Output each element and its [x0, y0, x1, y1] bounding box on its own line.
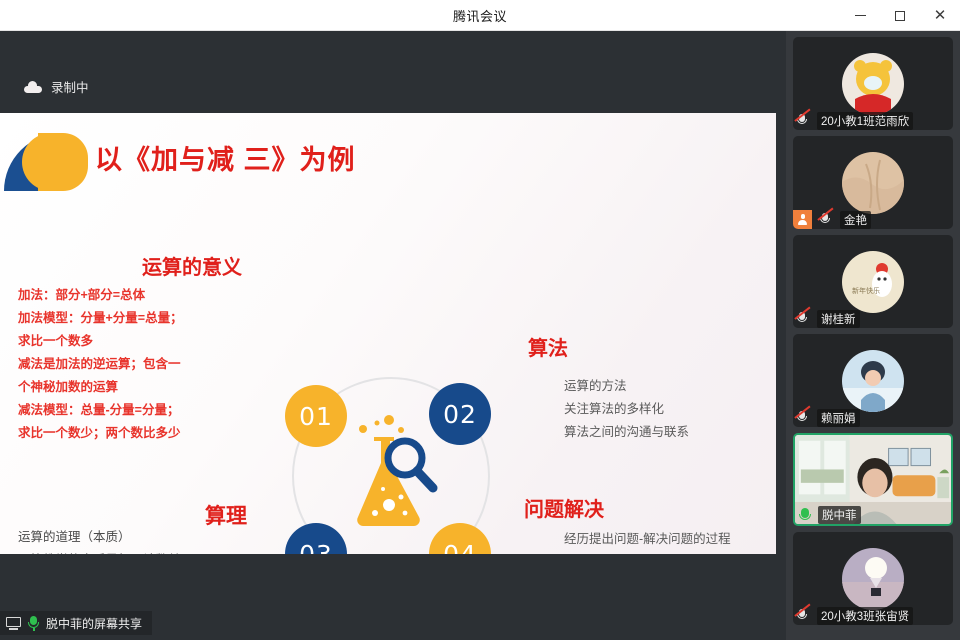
participant-name: 20小教3班张宙贤 — [817, 607, 913, 625]
avatar — [842, 53, 904, 115]
participant-tile[interactable]: 20小教3班张宙贤 — [793, 532, 953, 625]
avatar — [842, 548, 904, 610]
participant-namebar: 赖丽娟 — [793, 408, 867, 427]
mic-on-icon — [797, 507, 814, 523]
mic-muted-icon — [796, 410, 813, 425]
mic-muted-icon — [796, 311, 813, 326]
wenti-text-block: 经历提出问题-解决问题的过程 经历从生活问题-数学问题的过程 — [564, 528, 743, 554]
shared-screen-stage: 录制中 以《加与减 三》为例 运算的意义 加法：部分+部分=总体 加法模型：分量… — [0, 31, 786, 640]
heading-yunsuan: 运算的意义 — [142, 251, 242, 280]
window-controls: ✕ — [840, 0, 960, 31]
mic-muted-icon — [796, 608, 813, 623]
wenti-line: 经历提出问题-解决问题的过程 — [564, 528, 743, 551]
red-line: 求比一个数多 — [18, 330, 298, 353]
red-line: 求比一个数少；两个数比多少 — [18, 422, 298, 445]
mic-muted-icon — [796, 113, 813, 128]
red-text-block: 加法：部分+部分=总体 加法模型：分量+分量=总量； 求比一个数多 减法是加法的… — [18, 284, 298, 445]
number-circle-02: 02 — [429, 383, 491, 445]
suanfa-line: 算法之间的沟通与联系 — [564, 421, 689, 444]
red-line: 加法：部分+部分=总体 — [18, 284, 298, 307]
red-line: 加法模型：分量+分量=总量； — [18, 307, 298, 330]
number-circle-01: 01 — [285, 385, 347, 447]
participant-namebar: 20小教3班张宙贤 — [793, 606, 920, 625]
screen-share-label-bar: 脱中菲的屏幕共享 — [0, 611, 152, 635]
tencent-meeting-window: 腾讯会议 ✕ 录制中 以《加与减 三》为例 运算的意义 加法：部分+部分=总体 … — [0, 0, 960, 640]
avatar — [842, 152, 904, 214]
participant-namebar: 脱中菲 — [795, 505, 868, 524]
minimize-button[interactable] — [840, 0, 880, 31]
screen-share-icon — [6, 617, 21, 630]
avatar: 新年快乐 — [842, 251, 904, 313]
participant-name: 脱中菲 — [818, 506, 861, 524]
participant-tile[interactable]: 新年快乐 谢桂新 — [793, 235, 953, 328]
suanfa-text-block: 运算的方法 关注算法的多样化 算法之间的沟通与联系 — [564, 375, 689, 444]
recording-indicator: 录制中 — [24, 77, 89, 96]
recording-label: 录制中 — [51, 77, 89, 96]
suanfa-line: 关注算法的多样化 — [564, 398, 689, 421]
flask-magnifier-icon — [343, 413, 443, 533]
heading-wenti: 问题解决 — [524, 493, 604, 522]
screen-share-label: 脱中菲的屏幕共享 — [46, 615, 142, 632]
avatar — [842, 350, 904, 412]
gray-text-block: 运算的道理（本质） 运算教学的本质是相同计数单 位上的数相加减。 — [18, 526, 308, 554]
heading-suanfa: 算法 — [528, 332, 568, 361]
participant-namebar: 20小教1班范雨欣 — [793, 111, 920, 130]
center-diagram: 01 02 03 04 — [283, 371, 501, 554]
window-title: 腾讯会议 — [453, 6, 507, 25]
participant-name: 20小教1班范雨欣 — [817, 112, 913, 130]
gray-line: 运算教学的本质是相同计数单 — [18, 549, 308, 554]
suanfa-line: 运算的方法 — [564, 375, 689, 398]
wenti-line: 经历从生活问题-数学问题的过程 — [564, 551, 743, 554]
mic-muted-icon — [819, 212, 836, 227]
participant-name: 金艳 — [840, 211, 871, 229]
cloud-icon — [24, 81, 42, 93]
participant-tile-active-speaker[interactable]: 脱中菲 — [793, 433, 953, 526]
participant-namebar: 谢桂新 — [793, 309, 867, 328]
red-line: 个神秘加数的运算 — [18, 376, 298, 399]
logo-yellow-shape — [38, 133, 88, 191]
participant-tile[interactable]: 赖丽娟 — [793, 334, 953, 427]
slide-logo-shape — [4, 133, 88, 191]
maximize-button[interactable] — [880, 0, 920, 31]
participant-namebar: 金艳 — [793, 210, 878, 229]
participant-tile[interactable]: 20小教1班范雨欣 — [793, 37, 953, 130]
svg-text:新年快乐: 新年快乐 — [852, 286, 880, 295]
participant-name: 赖丽娟 — [817, 409, 860, 427]
participant-name: 谢桂新 — [817, 310, 860, 328]
participant-rail[interactable]: 20小教1班范雨欣 金艳 — [786, 31, 960, 640]
close-button[interactable]: ✕ — [920, 0, 960, 31]
gray-line: 运算的道理（本质） — [18, 526, 308, 549]
slide-title: 以《加与减 三》为例 — [95, 138, 356, 177]
host-badge-icon — [793, 210, 812, 229]
red-line: 减法是加法的逆运算；包含一 — [18, 353, 298, 376]
presentation-slide: 以《加与减 三》为例 运算的意义 加法：部分+部分=总体 加法模型：分量+分量=… — [0, 113, 776, 554]
mic-on-icon — [28, 616, 39, 631]
participant-tile[interactable]: 金艳 — [793, 136, 953, 229]
title-bar: 腾讯会议 ✕ — [0, 0, 960, 31]
red-line: 减法模型：总量-分量=分量； — [18, 399, 298, 422]
